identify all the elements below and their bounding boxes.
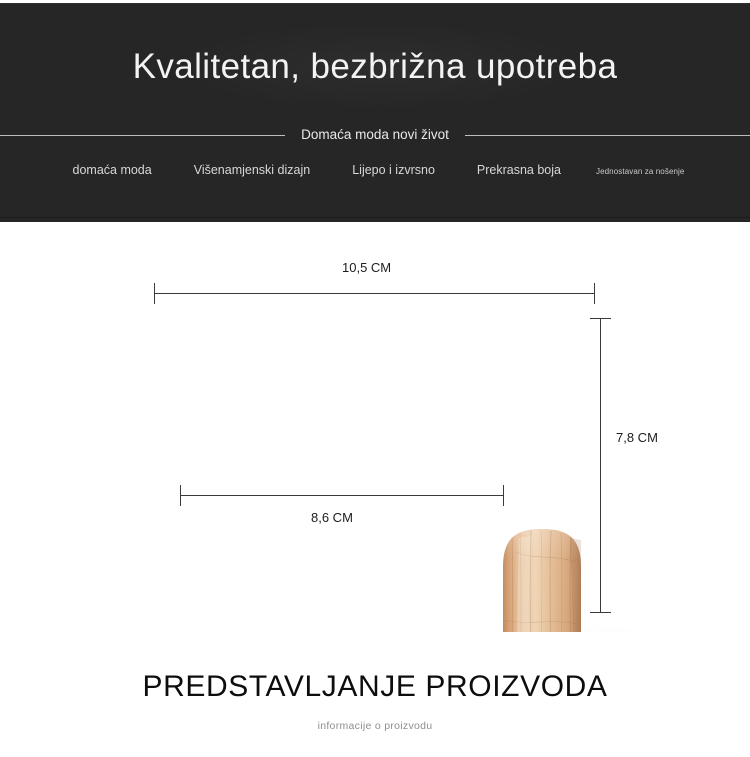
feature-tag: Jednostavan za nošenje — [596, 167, 685, 176]
dimension-line-overall-length — [154, 293, 595, 294]
page-title: Kvalitetan, bezbrižna upotreba — [0, 43, 750, 91]
footer-section: PREDSTAVLJANJE PROIZVODA informacije o p… — [0, 632, 750, 757]
feature-tag-row: domaća moda Višenamjenski dizajn Lijepo … — [0, 163, 750, 185]
dimension-tick-left — [154, 283, 155, 304]
dimension-tick-bottom — [590, 612, 611, 613]
dimension-line-screw-length — [180, 495, 504, 496]
banner-bottom-hairline — [0, 217, 750, 218]
divider-caption: Domaća moda novi život — [285, 125, 465, 145]
divider-line-right — [465, 135, 750, 136]
divider: Domaća moda novi život — [0, 125, 750, 145]
footer-title: PREDSTAVLJANJE PROIZVODA — [0, 670, 750, 704]
feature-tag: domaća moda — [73, 163, 152, 177]
dimension-tick-left — [180, 485, 181, 506]
product-stage: 10,5 CM 7,8 CM 8,6 CM — [0, 222, 750, 632]
product-illustration — [0, 222, 750, 632]
feature-tag: Višenamjenski dizajn — [194, 163, 311, 177]
banner-top-hairline — [0, 3, 750, 4]
divider-line-left — [0, 135, 285, 136]
hero-banner: Kvalitetan, bezbrižna upotreba Domaća mo… — [0, 3, 750, 222]
dimension-label-handle-height: 7,8 CM — [612, 430, 662, 445]
dimension-tick-top — [590, 318, 611, 319]
wooden-handle — [503, 529, 581, 632]
feature-tag: Lijepo i izvrsno — [352, 163, 435, 177]
dimension-label-screw-length: 8,6 CM — [307, 510, 357, 525]
footer-subtitle: informacije o proizvodu — [0, 720, 750, 732]
dimension-label-overall-length: 10,5 CM — [338, 260, 395, 275]
feature-tag: Prekrasna boja — [477, 163, 561, 177]
dimension-line-handle-height — [600, 318, 601, 613]
dimension-tick-right — [594, 283, 595, 304]
dimension-tick-right — [503, 485, 504, 506]
